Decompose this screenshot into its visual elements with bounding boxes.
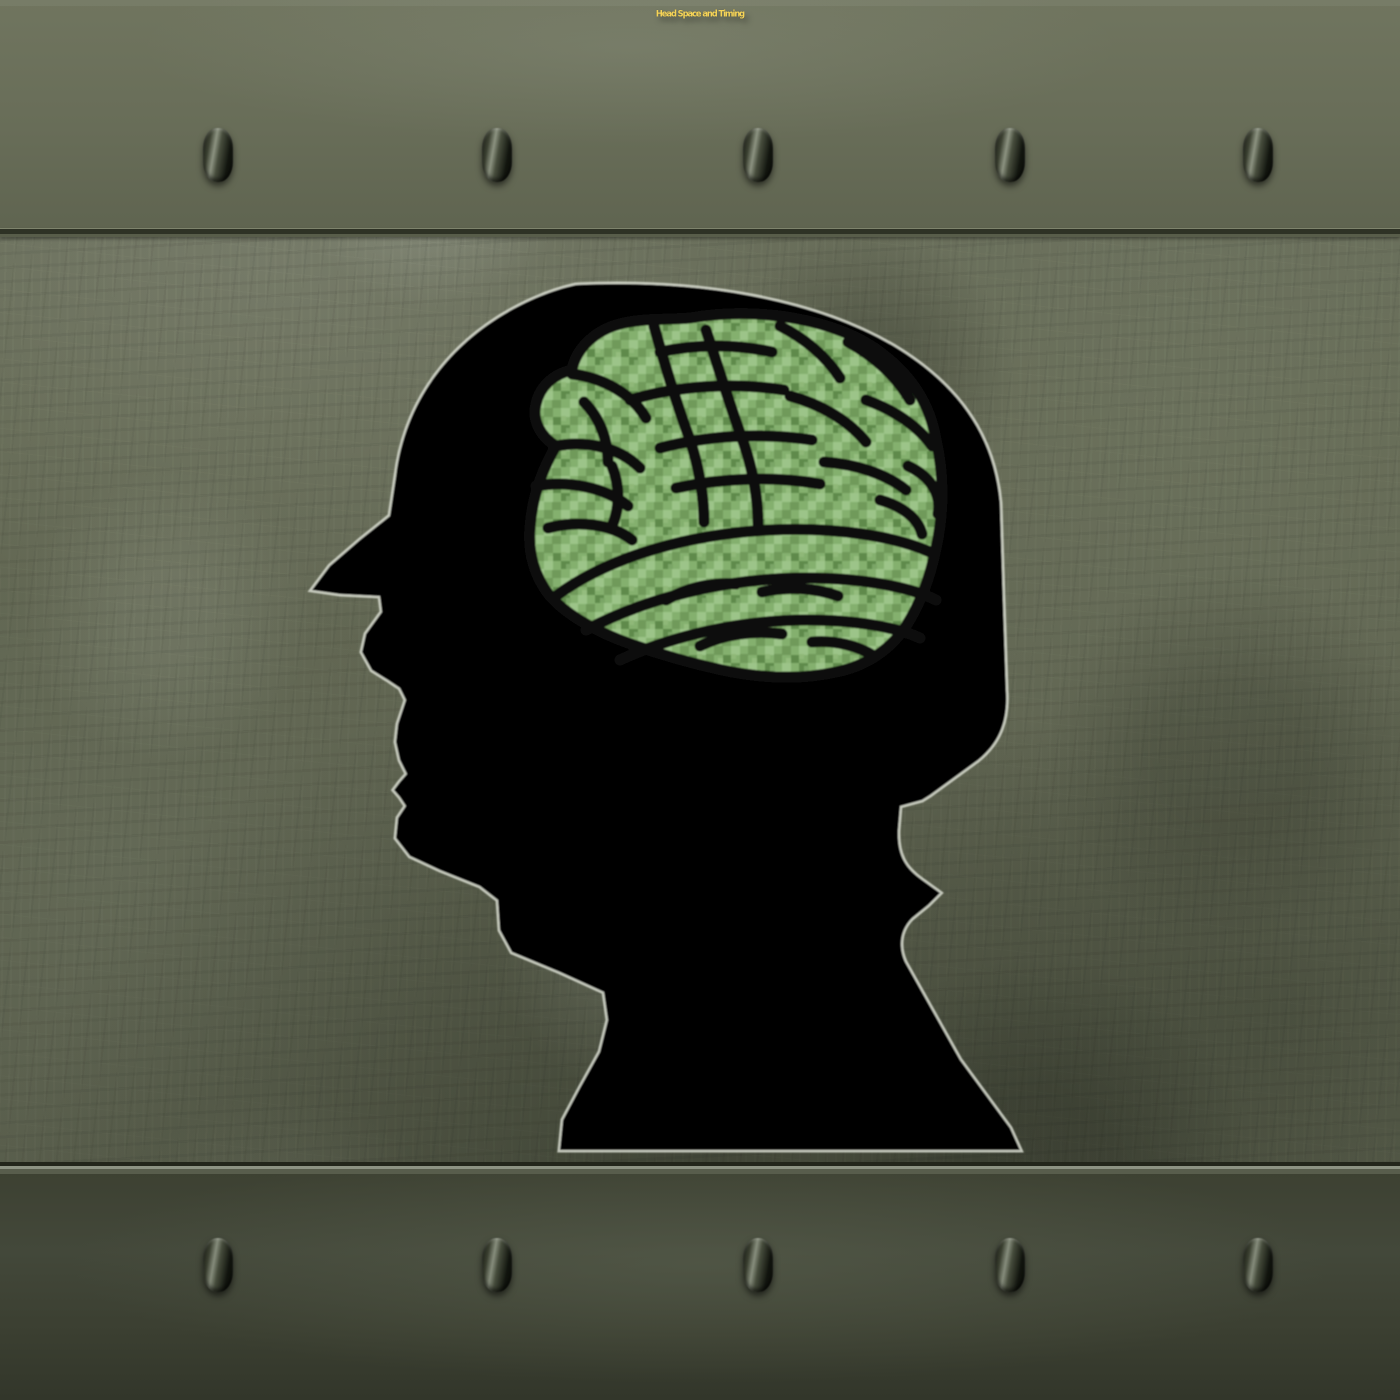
page-title: Head Space and Timing xyxy=(0,10,1400,19)
podcast-cover-art: Head Space and Timing Veteran Mental Hea… xyxy=(0,0,1400,1400)
soldier-brain-illustration xyxy=(0,0,1400,1400)
